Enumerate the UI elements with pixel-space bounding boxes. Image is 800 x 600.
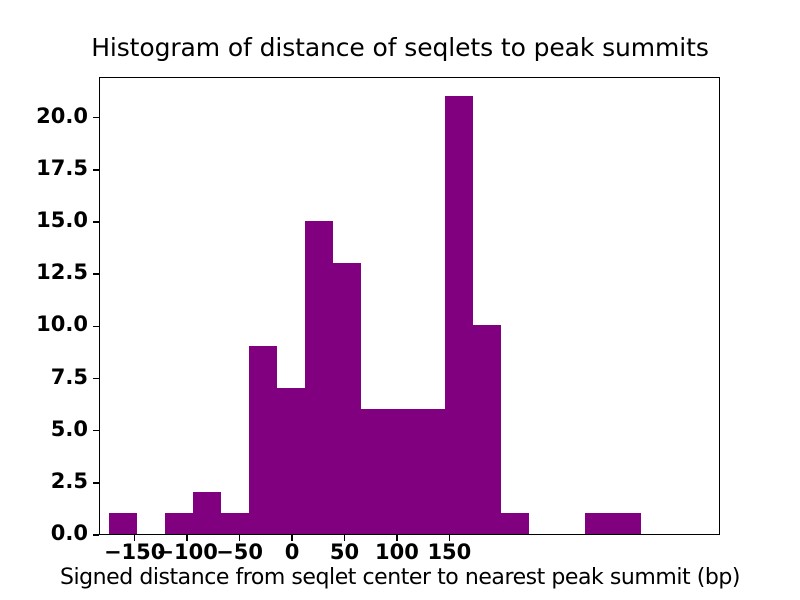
y-axis-tick-mark xyxy=(93,326,99,328)
y-axis-tick-mark xyxy=(93,273,99,275)
y-axis-tick-label: 7.5 xyxy=(0,365,97,389)
x-axis-tick-mark xyxy=(449,535,451,541)
plot-area xyxy=(99,77,720,535)
histogram-bar xyxy=(165,513,193,534)
y-axis-tick-label: 10.0 xyxy=(0,312,97,336)
histogram-bar xyxy=(277,388,305,534)
x-axis-tick-mark xyxy=(239,535,241,541)
y-axis-tick-mark xyxy=(93,221,99,223)
histogram-bar xyxy=(613,513,641,534)
x-axis-label: Signed distance from seqlet center to ne… xyxy=(0,565,800,590)
y-axis-tick-mark xyxy=(93,378,99,380)
x-axis-tick-mark xyxy=(344,535,346,541)
y-axis-tick-label: 15.0 xyxy=(0,208,97,232)
histogram-bar xyxy=(417,409,445,534)
y-axis-tick-label: 5.0 xyxy=(0,417,97,441)
histogram-bar xyxy=(585,513,613,534)
histogram-bar xyxy=(109,513,137,534)
page-title: Histogram of distance of seqlets to peak… xyxy=(0,33,800,62)
y-axis-tick-mark xyxy=(93,117,99,119)
y-axis-tick-label: 20.0 xyxy=(0,104,97,128)
histogram-bar xyxy=(501,513,529,534)
x-axis-tick-mark xyxy=(186,535,188,541)
y-axis-tick-mark xyxy=(93,430,99,432)
y-axis-tick-label: 17.5 xyxy=(0,156,97,180)
y-axis-tick-mark xyxy=(93,482,99,484)
histogram-bar xyxy=(333,263,361,534)
histogram-bar xyxy=(361,409,389,534)
histogram-bar xyxy=(221,513,249,534)
y-axis-tick-label: 0.0 xyxy=(0,521,97,545)
histogram-bar xyxy=(193,492,221,534)
histogram-bar xyxy=(305,221,333,534)
y-axis-tick-mark xyxy=(93,534,99,536)
y-axis-tick-label: 12.5 xyxy=(0,260,97,284)
x-axis-tick-mark xyxy=(134,535,136,541)
histogram-bars xyxy=(100,78,719,534)
histogram-bar xyxy=(389,409,417,534)
y-axis-tick-mark xyxy=(93,169,99,171)
y-axis-tick-label: 2.5 xyxy=(0,469,97,493)
x-axis-tick-mark xyxy=(396,535,398,541)
x-axis-tick-label: 150 xyxy=(409,540,489,564)
histogram-bar xyxy=(473,325,501,534)
x-axis-tick-mark xyxy=(291,535,293,541)
histogram-bar xyxy=(445,96,473,534)
histogram-bar xyxy=(249,346,277,534)
figure-canvas: Histogram of distance of seqlets to peak… xyxy=(0,0,800,600)
